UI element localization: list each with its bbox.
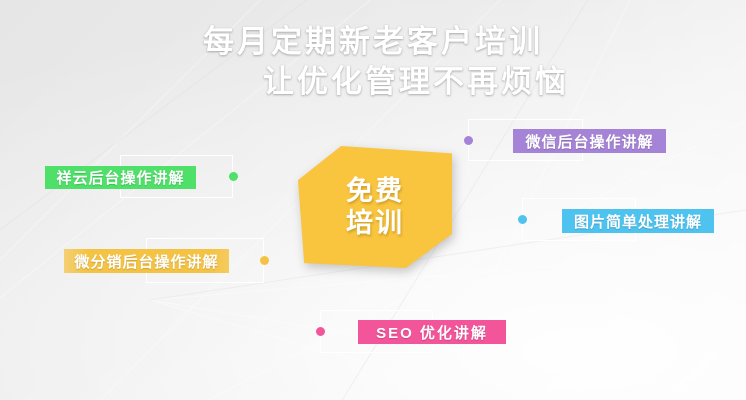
- node-dot-weixin: [464, 136, 473, 145]
- hexagon-line-2: 培训: [346, 207, 404, 239]
- poster-canvas: 每月定期新老客户培训 让优化管理不再烦恼 祥云后台操作讲解 微分销后台操作讲解 …: [0, 0, 746, 400]
- headline-line-1: 每月定期新老客户培训: [0, 22, 746, 62]
- node-label-weixin[interactable]: 微信后台操作讲解: [513, 129, 666, 153]
- headline-line-2: 让优化管理不再烦恼: [0, 62, 746, 102]
- node-dot-seo: [316, 327, 325, 336]
- node-dot-weifenxiao: [260, 256, 269, 265]
- node-label-weifenxiao[interactable]: 微分销后台操作讲解: [64, 249, 229, 273]
- node-dot-tupian: [518, 215, 527, 224]
- node-label-seo[interactable]: SEO 优化讲解: [358, 320, 506, 344]
- node-dot-xiangyun: [229, 172, 238, 181]
- node-label-tupian[interactable]: 图片简单处理讲解: [562, 209, 714, 233]
- hexagon-line-1: 免费: [346, 175, 404, 207]
- free-training-hexagon[interactable]: 免费 培训: [298, 146, 452, 268]
- node-label-xiangyun[interactable]: 祥云后台操作讲解: [45, 166, 196, 189]
- poster-headline: 每月定期新老客户培训 让优化管理不再烦恼: [0, 22, 746, 102]
